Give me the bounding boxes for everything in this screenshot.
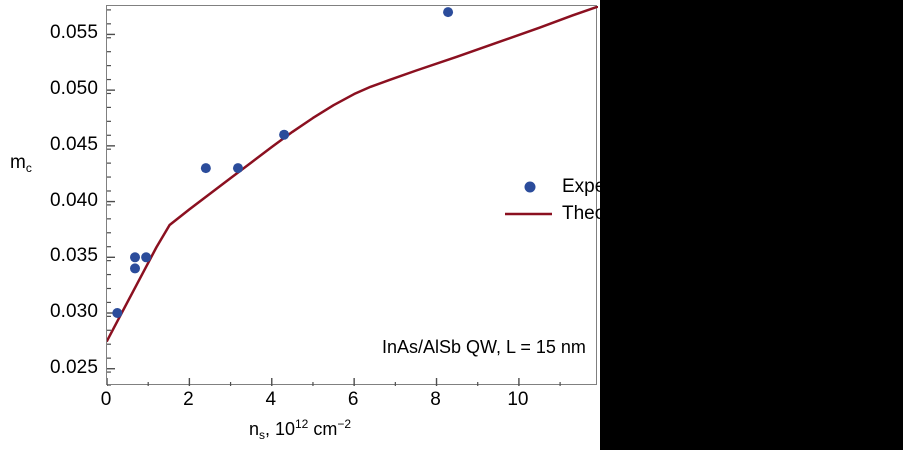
plot-area: Experiment Theory InAs/AlSb QW, L = 15 n…: [106, 5, 597, 385]
axis-ticks: [107, 10, 560, 386]
x-axis-title-exponent: 12: [295, 417, 308, 431]
legend-line-icon: [505, 201, 555, 228]
x-axis-title-rest: , 10: [265, 419, 295, 439]
y-tick-label: 0.035: [50, 245, 98, 267]
y-tick-label: 0.055: [50, 22, 98, 44]
x-axis-title-unit: cm: [308, 419, 337, 439]
x-tick-label: 6: [348, 389, 359, 411]
x-tick-label: 0: [101, 389, 112, 411]
x-axis-title-unit-exponent: −2: [337, 417, 351, 431]
figure-canvas: mc 0.0250.0300.0350.0400.0450.0500.055: [0, 0, 600, 450]
legend-marker-icon: [505, 174, 555, 201]
black-margin: [600, 0, 903, 450]
plot-annotation-text: InAs/AlSb QW, L = 15 nm: [382, 337, 586, 358]
y-tick-label: 0.050: [50, 78, 98, 100]
x-axis-title-main: n: [249, 419, 259, 439]
x-tick-label: 4: [265, 389, 276, 411]
y-tick-label: 0.030: [50, 301, 98, 323]
y-tick-label: 0.040: [50, 190, 98, 212]
x-tick-label: 2: [183, 389, 194, 411]
x-tick-label: 10: [507, 389, 528, 411]
y-tick-label: 0.045: [50, 134, 98, 156]
x-tick-label: 8: [430, 389, 441, 411]
x-axis-tick-labels: 0246810: [0, 389, 600, 419]
x-axis-title-subscript: s: [259, 428, 265, 442]
y-tick-label: 0.025: [50, 357, 98, 379]
screenshot-root: mc 0.0250.0300.0350.0400.0450.0500.055: [0, 0, 903, 450]
y-axis-tick-labels: 0.0250.0300.0350.0400.0450.0500.055: [0, 0, 104, 450]
x-axis-title: ns, 1012 cm−2: [0, 419, 600, 440]
experiment-point-series: [112, 7, 453, 318]
